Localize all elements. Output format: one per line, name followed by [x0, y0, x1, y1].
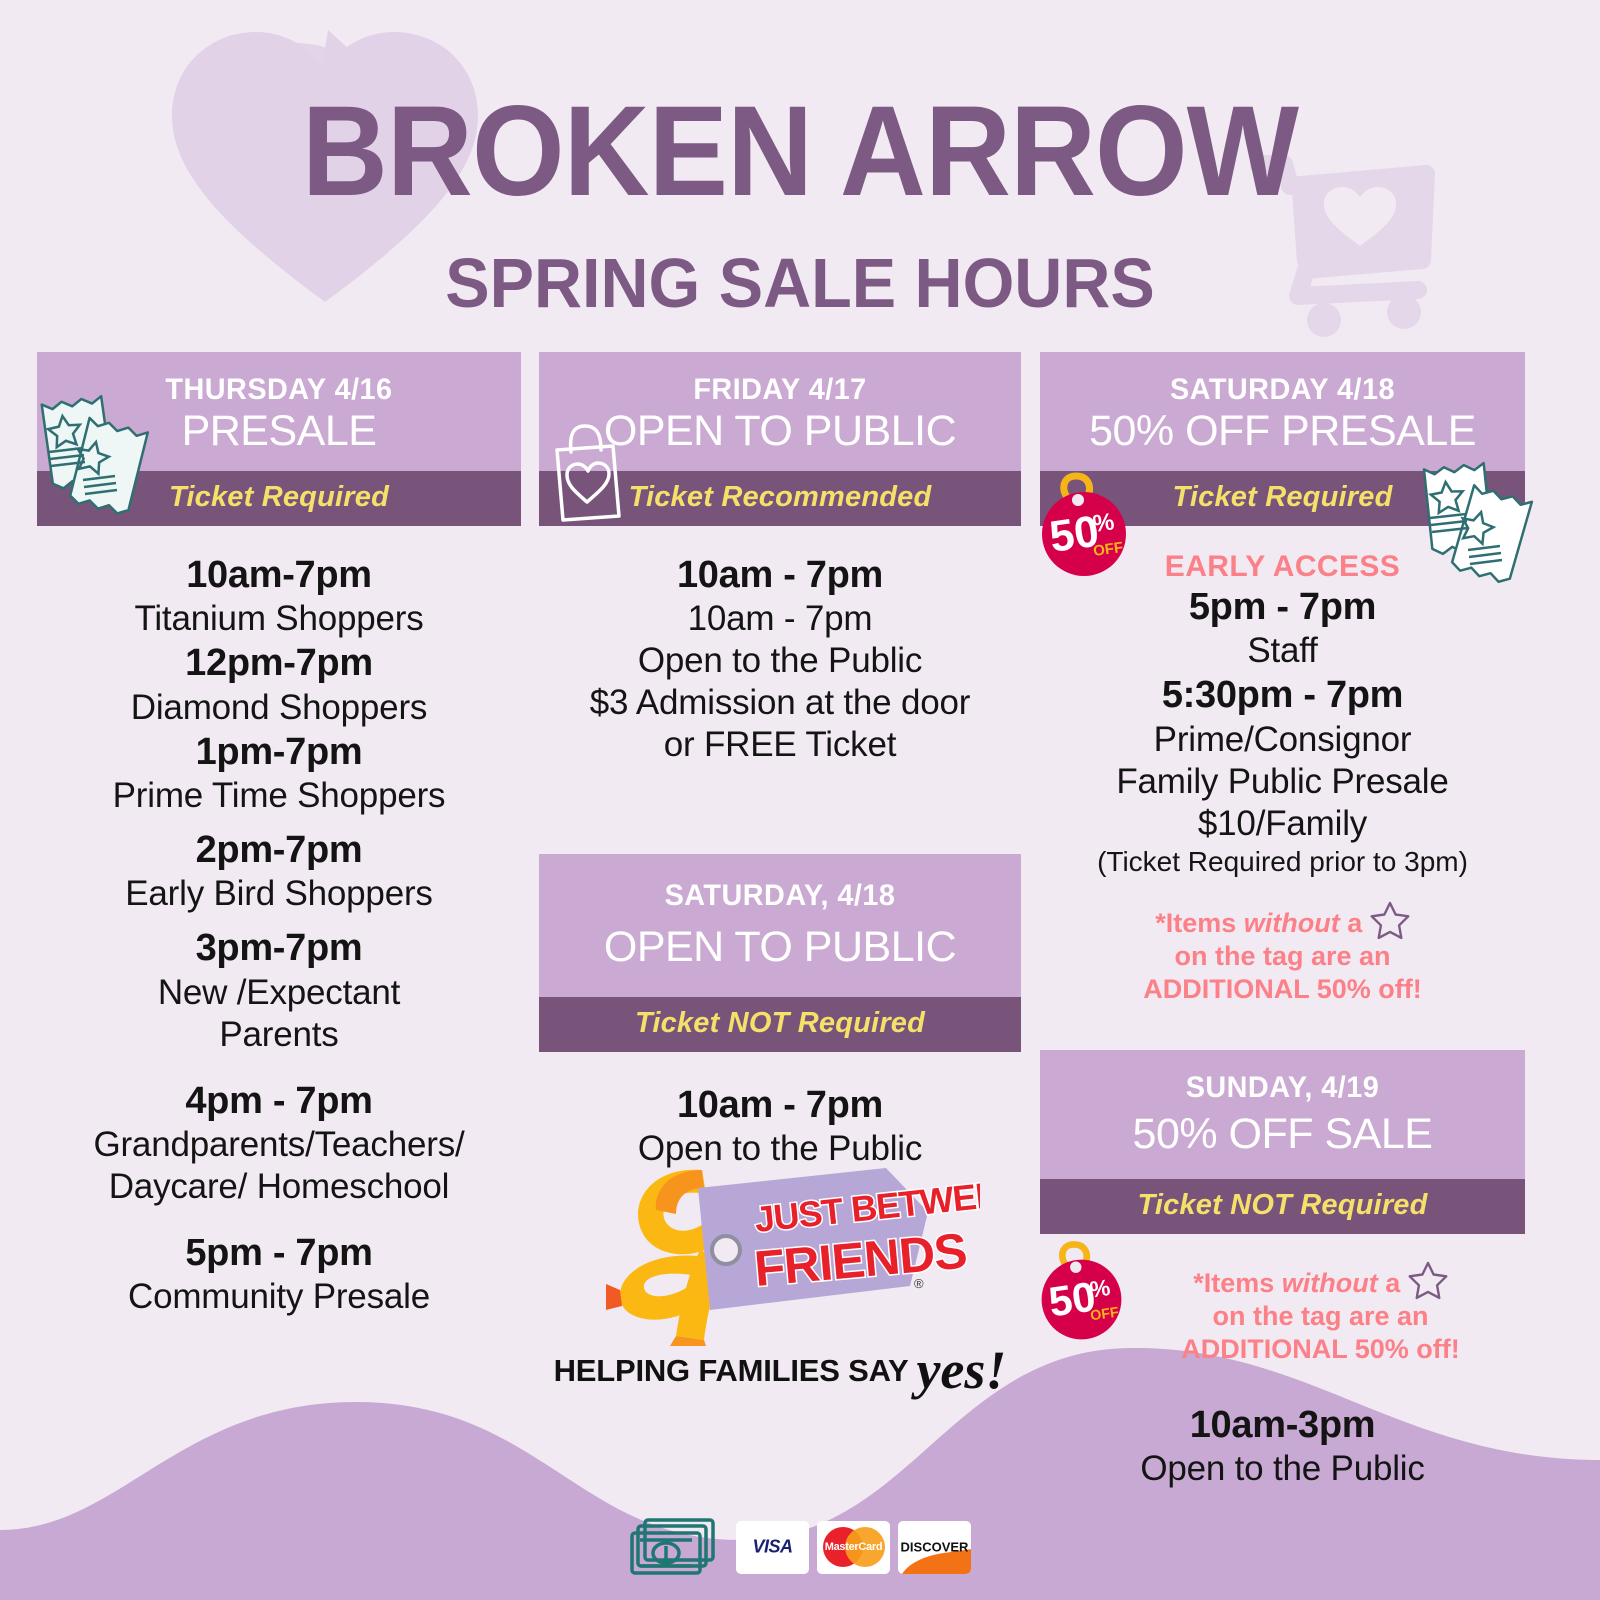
time-label: 12pm-7pm — [41, 640, 517, 686]
discover-label: DISCOVER — [898, 1540, 971, 1555]
registered-mark: ® — [914, 1276, 924, 1291]
time-label: 4pm - 7pm — [41, 1078, 517, 1124]
audience-label: Diamond Shoppers — [41, 687, 517, 729]
card-day: SATURDAY, 4/18 — [558, 880, 1002, 912]
star-outline-icon — [1408, 1260, 1448, 1300]
headline-time: 10am-3pm — [1044, 1402, 1521, 1448]
mastercard-circles-icon: MasterCard — [823, 1527, 885, 1567]
discover-logo: DISCOVER — [898, 1521, 971, 1574]
visa-logo: VISA — [736, 1521, 809, 1574]
column-saturday-sunday-50off: SATURDAY 4/18 50% OFF PRESALE Ticket Req… — [1040, 352, 1525, 1490]
detail-line: $3 Admission at the door — [543, 682, 1017, 724]
audience-label: Early Bird Shoppers — [41, 873, 517, 915]
time-label: 10am-7pm — [41, 552, 517, 598]
audience-label: Titanium Shoppers — [41, 598, 517, 640]
card-day: FRIDAY 4/17 — [558, 374, 1002, 406]
audience-label: New /Expectant Parents — [41, 972, 517, 1056]
detail-line: 10am - 7pm — [543, 598, 1017, 640]
card-kind: 50% OFF PRESALE — [1050, 408, 1515, 455]
time-label: 5:30pm - 7pm — [1044, 672, 1521, 718]
audience-label: Prime Time Shoppers — [41, 775, 517, 817]
card-thursday-presale: THURSDAY 4/16 PRESALE Ticket Required — [37, 352, 521, 526]
fifty-percent-off-badge-icon: 50 % OFF — [1034, 470, 1134, 578]
card-header-band: SUNDAY, 4/19 50% OFF SALE — [1040, 1050, 1525, 1179]
time-label: 1pm-7pm — [41, 729, 517, 775]
audience-label: Community Presale — [41, 1276, 517, 1318]
time-label: 3pm-7pm — [41, 925, 517, 971]
card-saturday-public: SATURDAY, 4/18 OPEN TO PUBLIC Ticket NOT… — [539, 854, 1021, 1052]
tickets-icon — [33, 390, 153, 515]
star-note-line2: on the tag are an — [1174, 941, 1390, 971]
card-header-band: SATURDAY 4/18 50% OFF PRESALE — [1040, 352, 1525, 471]
thursday-schedule: 10am-7pm Titanium Shoppers 12pm-7pm Diam… — [37, 526, 521, 1319]
cash-icon — [629, 1516, 724, 1578]
page-title-block: BROKEN ARROW SPRING SALE HOURS — [0, 88, 1600, 318]
audience-label: Prime/Consignor Family Public Presale $1… — [1044, 719, 1521, 845]
mastercard-logo: MasterCard — [817, 1521, 890, 1574]
just-between-friends-logo-icon: JUST BETWEEN FRIENDS ® — [580, 1140, 980, 1350]
star-note-line1-a: *Items — [1193, 1268, 1282, 1298]
star-note-emphasis: without — [1244, 908, 1340, 938]
card-header-band: SATURDAY, 4/18 OPEN TO PUBLIC — [539, 854, 1021, 997]
tagline: HELPING FAMILIES SAY yes! — [539, 1349, 1021, 1392]
shopping-bag-heart-icon — [545, 422, 625, 527]
sunday-schedule: 10am-3pm Open to the Public — [1040, 1366, 1525, 1490]
time-label: 2pm-7pm — [41, 827, 517, 873]
detail-line: Open to the Public — [1044, 1448, 1521, 1490]
star-note-emphasis: without — [1282, 1268, 1378, 1298]
tagline-text: HELPING FAMILIES SAY — [554, 1353, 909, 1389]
tagline-yes: yes! — [916, 1349, 1006, 1392]
star-note-line3: ADDITIONAL 50% off! — [1143, 974, 1422, 1004]
star-note-line1-b: a — [1378, 1268, 1408, 1298]
svg-text:%: % — [1088, 1274, 1112, 1303]
card-day: SATURDAY 4/18 — [1059, 374, 1505, 406]
sunday-50-body: 50 % OFF *Items without a on the tag are… — [1040, 1234, 1525, 1490]
ticket-note: (Ticket Required prior to 3pm) — [1044, 845, 1521, 879]
card-day: SUNDAY, 4/19 — [1059, 1072, 1505, 1104]
mastercard-label: MasterCard — [823, 1541, 885, 1553]
page-title: BROKEN ARROW — [56, 88, 1544, 216]
time-label: 5pm - 7pm — [41, 1230, 517, 1276]
card-kind: OPEN TO PUBLIC — [549, 924, 1011, 971]
card-ticket-band: Ticket NOT Required — [539, 997, 1021, 1052]
tickets-icon — [1414, 456, 1539, 584]
svg-text:OFF: OFF — [1089, 1304, 1120, 1324]
card-kind: 50% OFF SALE — [1050, 1111, 1515, 1158]
column-thursday: THURSDAY 4/16 PRESALE Ticket Required — [37, 352, 521, 1318]
card-ticket-band: Ticket NOT Required — [1040, 1179, 1525, 1234]
accepted-payments: VISA MasterCard DISCOVER — [0, 1516, 1600, 1578]
star-note-line2: on the tag are an — [1212, 1301, 1428, 1331]
detail-line: Open to the Public — [543, 640, 1017, 682]
headline-time: 10am - 7pm — [543, 552, 1017, 598]
star-note-line1-a: *Items — [1155, 908, 1244, 938]
column-friday-saturday: FRIDAY 4/17 OPEN TO PUBLIC Ticket Recomm… — [539, 352, 1021, 1170]
saturday-50-schedule: EARLY ACCESS 5pm - 7pm Staff 5:30pm - 7p… — [1040, 526, 1525, 1006]
svg-text:OFF: OFF — [1092, 539, 1124, 560]
card-sunday-50-sale: SUNDAY, 4/19 50% OFF SALE Ticket NOT Req… — [1040, 1050, 1525, 1234]
headline-time: 10am - 7pm — [543, 1082, 1017, 1128]
detail-line: or FREE Ticket — [543, 724, 1017, 766]
star-note-line1-b: a — [1340, 908, 1370, 938]
time-label: 5pm - 7pm — [1044, 584, 1521, 630]
fifty-percent-off-badge-icon: 50 % OFF — [1034, 1238, 1129, 1342]
card-saturday-50-presale: SATURDAY 4/18 50% OFF PRESALE Ticket Req… — [1040, 352, 1525, 526]
jbf-logo-block: JUST BETWEEN FRIENDS ® HELPING FAMILIES … — [539, 1140, 1021, 1392]
svg-text:%: % — [1091, 508, 1116, 538]
ticket-requirement: Ticket NOT Required — [549, 1007, 1011, 1040]
page-subtitle: SPRING SALE HOURS — [40, 248, 1560, 318]
star-discount-note: *Items without a on the tag are an ADDIT… — [1044, 900, 1521, 1006]
visa-label: VISA — [736, 1537, 809, 1558]
card-friday-public: FRIDAY 4/17 OPEN TO PUBLIC Ticket Recomm… — [539, 352, 1021, 526]
star-note-line3: ADDITIONAL 50% off! — [1181, 1334, 1460, 1364]
ticket-requirement: Ticket NOT Required — [1050, 1189, 1515, 1222]
friday-schedule: 10am - 7pm 10am - 7pm Open to the Public… — [539, 526, 1021, 766]
star-outline-icon — [1370, 900, 1410, 940]
audience-label: Grandparents/Teachers/ Daycare/ Homescho… — [41, 1124, 517, 1208]
audience-label: Staff — [1044, 630, 1521, 672]
